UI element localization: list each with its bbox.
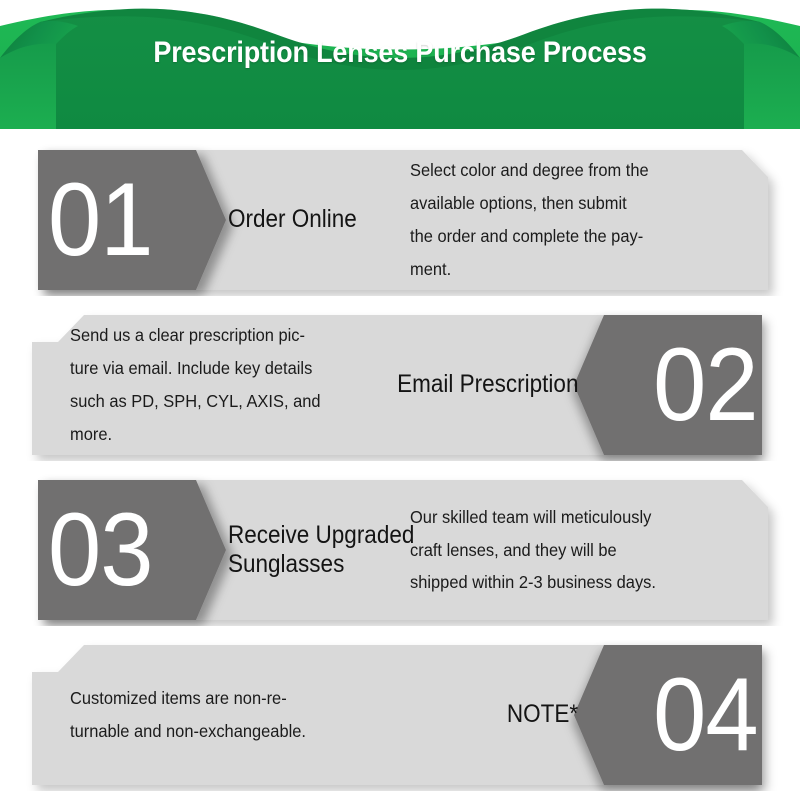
step-2-number: 02	[653, 309, 758, 461]
step-4-content: 04 NOTE* Customized items are non-re- tu…	[0, 639, 800, 791]
step-3-description: Our skilled team will meticulously craft…	[410, 474, 656, 626]
step-2-description: Send us a clear prescription pic- ture v…	[70, 309, 321, 461]
step-row: 03 Receive Upgraded Sunglasses Our skill…	[0, 474, 800, 626]
step-3-content: 03 Receive Upgraded Sunglasses Our skill…	[0, 474, 800, 626]
step-3-title: Receive Upgraded Sunglasses	[228, 474, 414, 626]
step-2-title: Email Prescription	[397, 309, 578, 461]
header-banner: Prescription Lenses Purchase Process	[0, 0, 800, 132]
step-4-number: 04	[653, 639, 758, 791]
step-1-number: 01	[48, 144, 153, 296]
step-4-title: NOTE*	[507, 639, 578, 791]
step-1-title: Order Online	[228, 144, 357, 296]
step-row: 04 NOTE* Customized items are non-re- tu…	[0, 639, 800, 791]
step-row: 01 Order Online Select color and degree …	[0, 144, 800, 296]
step-3-number: 03	[48, 474, 153, 626]
step-2-content: 02 Email Prescription Send us a clear pr…	[0, 309, 800, 461]
step-4-description: Customized items are non-re- turnable an…	[70, 639, 306, 791]
step-1-content: 01 Order Online Select color and degree …	[0, 144, 800, 296]
step-1-description: Select color and degree from the availab…	[410, 144, 649, 296]
step-row: 02 Email Prescription Send us a clear pr…	[0, 309, 800, 461]
banner-ribbon-graphic	[0, 0, 800, 132]
